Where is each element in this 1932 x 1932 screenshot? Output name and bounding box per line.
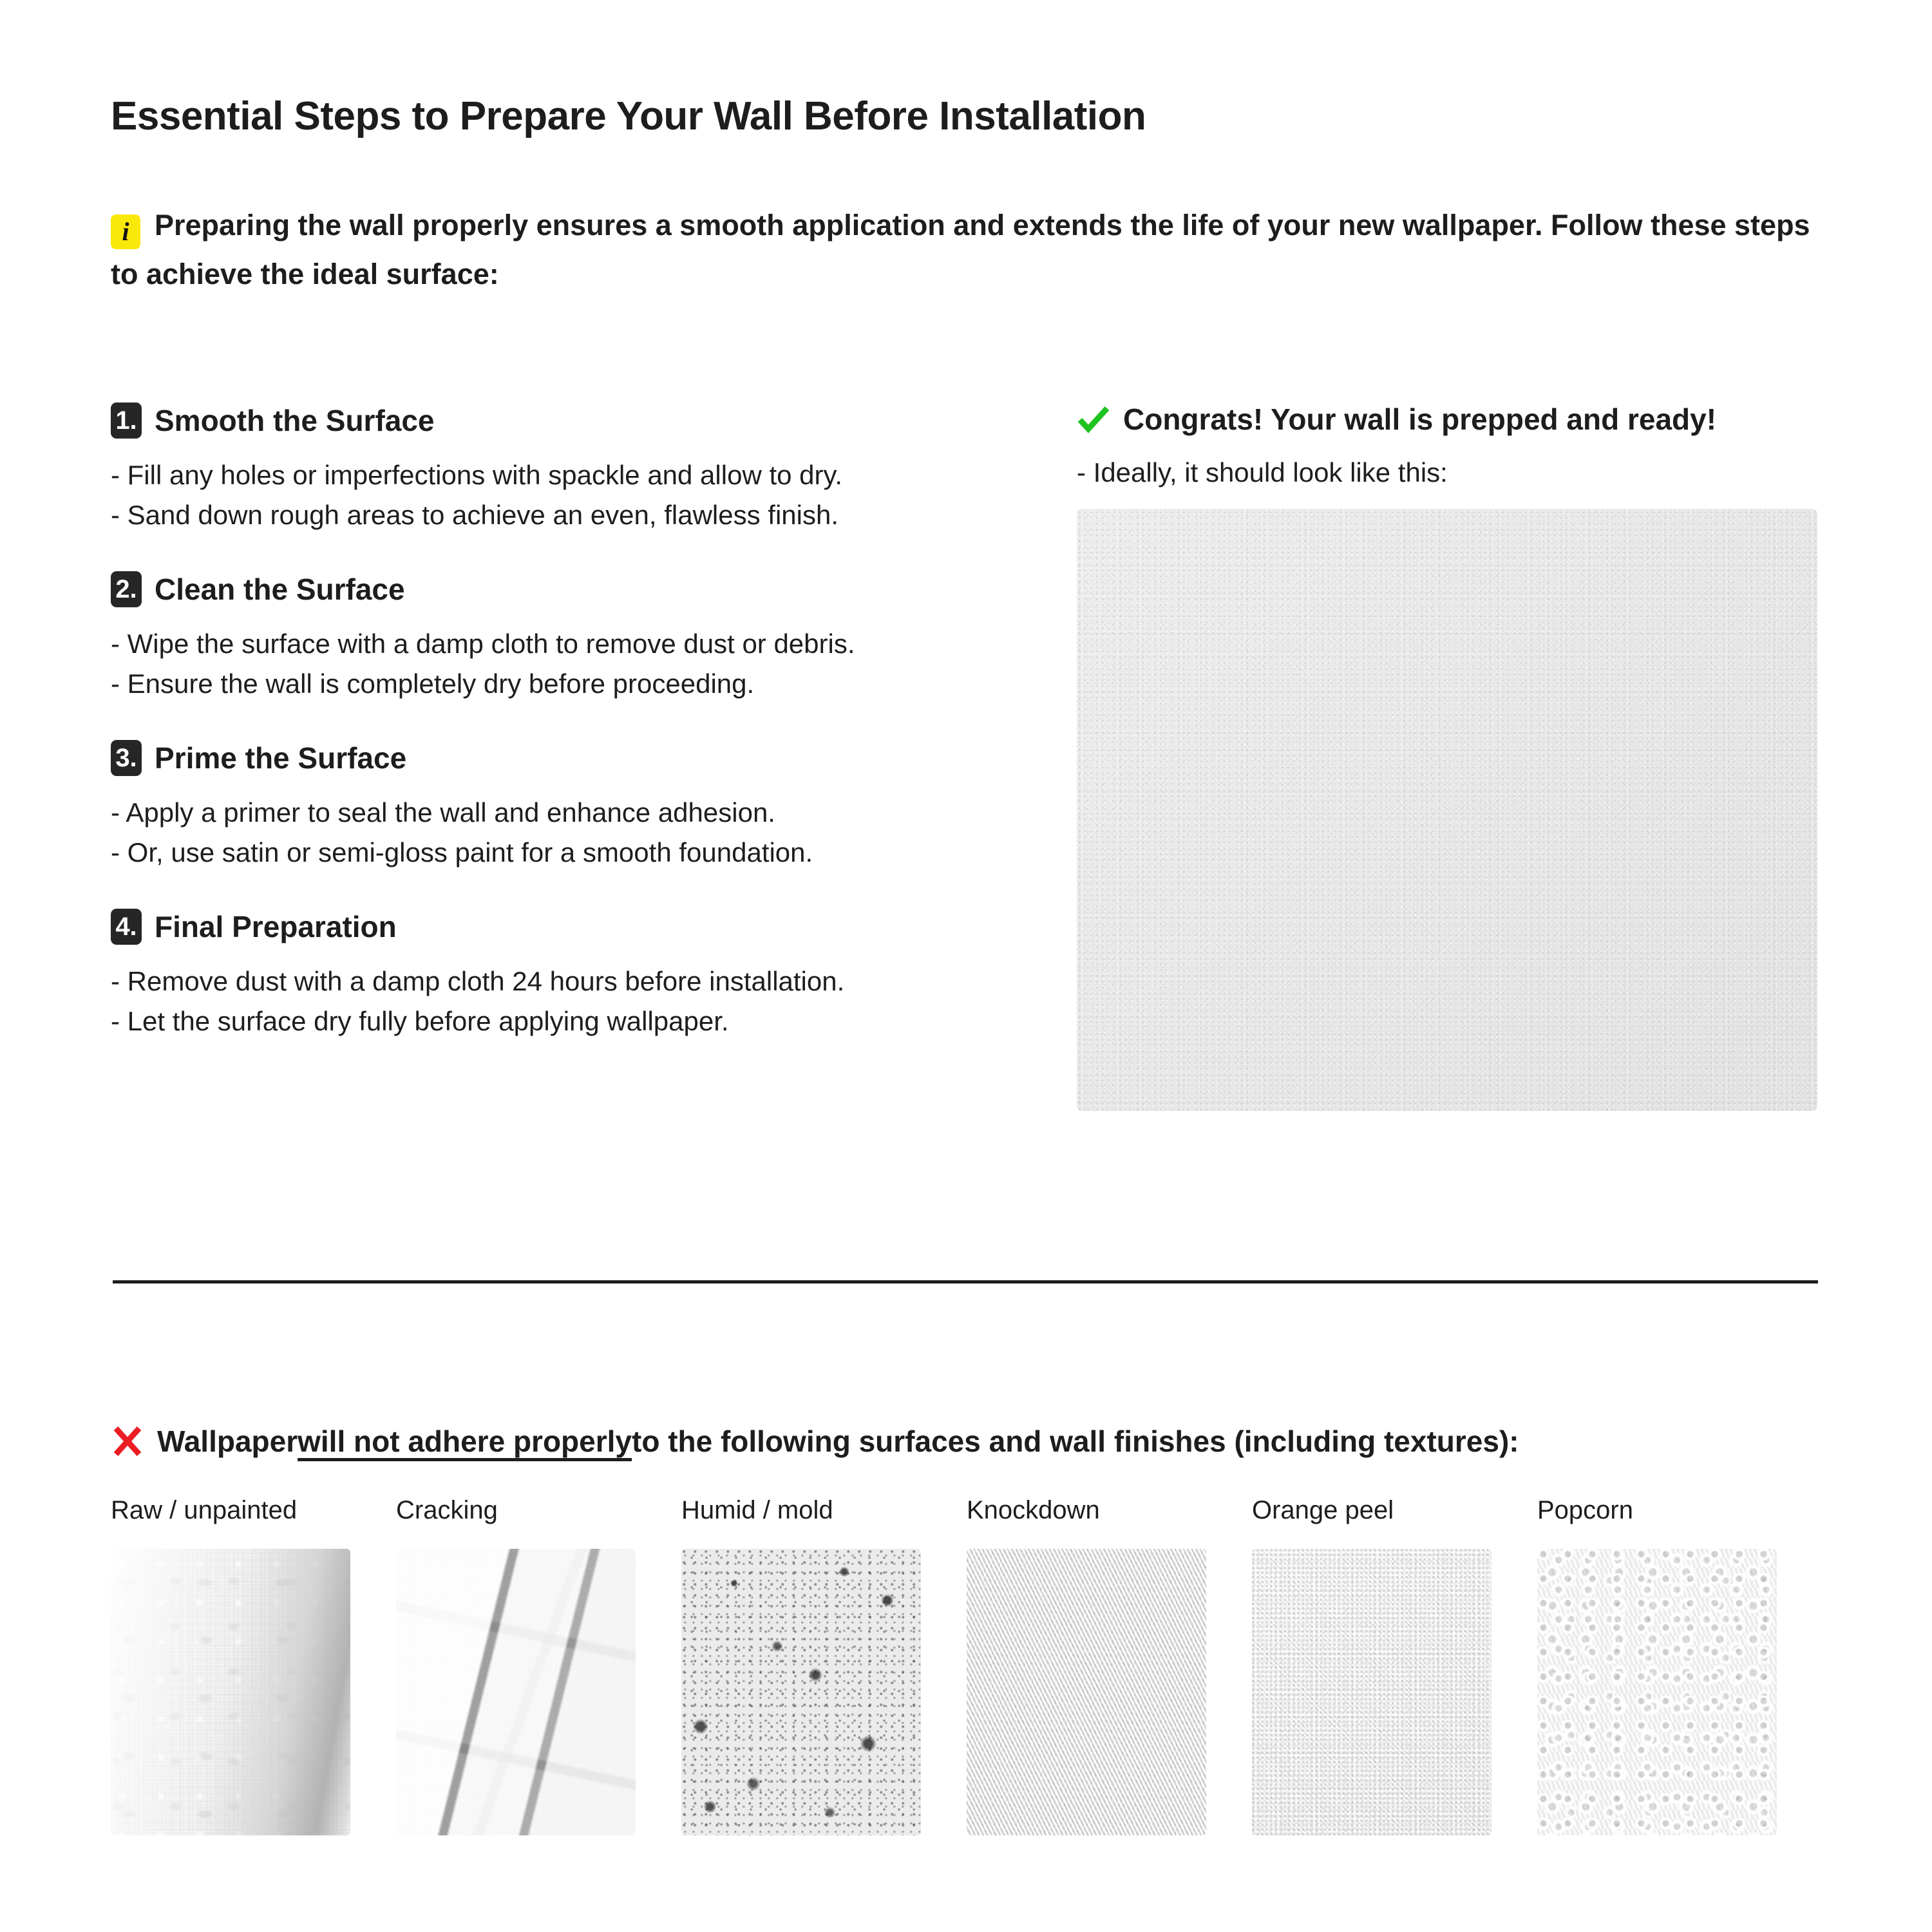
bad-surface-item: Raw / unpainted — [111, 1497, 396, 1835]
bad-surfaces-gallery: Raw / unpainted Cracking Humid / mold Kn… — [111, 1497, 1824, 1835]
wall-preparation-guide-page: Essential Steps to Prepare Your Wall Bef… — [0, 0, 1932, 1932]
step-heading: 3. Prime the Surface — [111, 740, 1012, 776]
info-icon: i — [111, 214, 140, 249]
check-icon — [1077, 402, 1110, 436]
bad-surface-item: Cracking — [396, 1497, 681, 1835]
raw-unpainted-texture-image — [111, 1549, 350, 1835]
step-heading: 1. Smooth the Surface — [111, 402, 1012, 439]
step-heading-label: Clean the Surface — [155, 574, 405, 604]
bad-surface-label: Humid / mold — [681, 1497, 967, 1523]
step-item: 3. Prime the Surface - Apply a primer to… — [111, 740, 1012, 873]
cracking-texture-image — [396, 1549, 636, 1835]
step-number-badge: 1. — [111, 402, 142, 439]
step-item: 2. Clean the Surface - Wipe the surface … — [111, 571, 1012, 704]
steps-column: 1. Smooth the Surface - Fill any holes o… — [111, 402, 1012, 1077]
step-heading: 2. Clean the Surface — [111, 571, 1012, 607]
bad-surface-label: Orange peel — [1252, 1497, 1537, 1523]
step-detail-line: - Ensure the wall is completely dry befo… — [111, 664, 1012, 704]
section-divider — [113, 1280, 1818, 1283]
step-number-badge: 4. — [111, 909, 142, 945]
warning-text-emphasis: will not adhere properly — [298, 1426, 632, 1456]
step-detail-line: - Apply a primer to seal the wall and en… — [111, 793, 1012, 833]
prepped-wall-preview-image — [1077, 509, 1817, 1111]
step-detail-line: - Let the surface dry fully before apply… — [111, 1001, 1012, 1041]
step-item: 1. Smooth the Surface - Fill any holes o… — [111, 402, 1012, 535]
page-title: Essential Steps to Prepare Your Wall Bef… — [111, 93, 1146, 139]
step-detail-line: - Sand down rough areas to achieve an ev… — [111, 495, 1012, 535]
humid-mold-texture-image — [681, 1549, 921, 1835]
intro-text: Preparing the wall properly ensures a sm… — [111, 209, 1810, 290]
step-detail-line: - Remove dust with a damp cloth 24 hours… — [111, 961, 1012, 1001]
step-heading-label: Smooth the Surface — [155, 406, 435, 435]
step-detail-line: - Or, use satin or semi-gloss paint for … — [111, 833, 1012, 873]
bad-surface-label: Raw / unpainted — [111, 1497, 396, 1523]
step-detail-line: - Fill any holes or imperfections with s… — [111, 455, 1012, 495]
bad-surface-item: Popcorn — [1537, 1497, 1823, 1835]
popcorn-texture-image — [1537, 1549, 1777, 1835]
step-number-badge: 2. — [111, 571, 142, 607]
orange-peel-texture-image — [1252, 1549, 1492, 1835]
bad-surface-item: Humid / mold — [681, 1497, 967, 1835]
bad-surface-label: Popcorn — [1537, 1497, 1823, 1523]
warning-text-after: to the following surfaces and wall finis… — [632, 1426, 1519, 1456]
step-heading-label: Final Preparation — [155, 912, 397, 942]
step-heading: 4. Final Preparation — [111, 909, 1012, 945]
bad-surface-item: Knockdown — [967, 1497, 1252, 1835]
bad-surface-label: Cracking — [396, 1497, 681, 1523]
bad-surface-item: Orange peel — [1252, 1497, 1537, 1835]
intro-paragraph: iPreparing the wall properly ensures a s… — [111, 201, 1824, 299]
success-heading-label: Congrats! Your wall is prepped and ready… — [1123, 404, 1716, 434]
success-column: Congrats! Your wall is prepped and ready… — [1077, 402, 1824, 507]
step-item: 4. Final Preparation - Remove dust with … — [111, 909, 1012, 1041]
success-heading: Congrats! Your wall is prepped and ready… — [1077, 402, 1824, 436]
warning-text-before: Wallpaper — [157, 1426, 298, 1456]
x-icon — [111, 1425, 144, 1458]
bad-surface-label: Knockdown — [967, 1497, 1252, 1523]
step-heading-label: Prime the Surface — [155, 743, 406, 773]
warning-heading: Wallpaper will not adhere properly to th… — [111, 1425, 1519, 1458]
step-detail-line: - Wipe the surface with a damp cloth to … — [111, 624, 1012, 664]
knockdown-texture-image — [967, 1549, 1206, 1835]
step-number-badge: 3. — [111, 740, 142, 776]
success-subtext: - Ideally, it should look like this: — [1077, 453, 1824, 493]
